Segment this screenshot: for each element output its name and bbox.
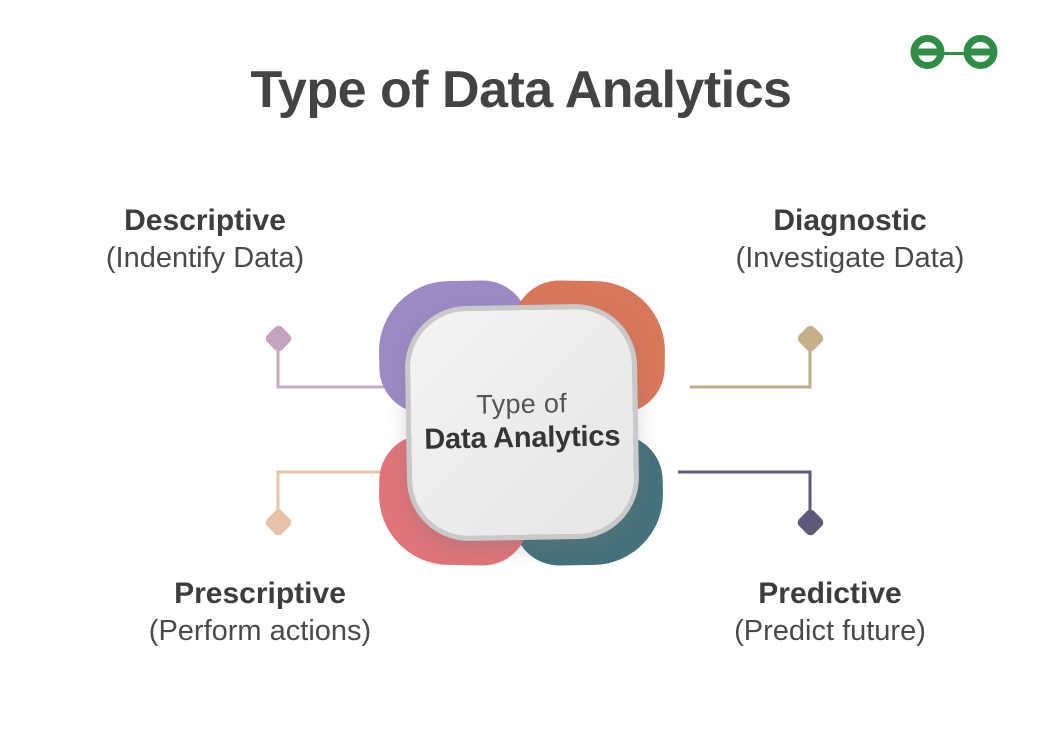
quadrant-subtitle-descriptive: (Indentify Data): [35, 240, 375, 277]
quadrant-subtitle-predictive: (Predict future): [665, 613, 995, 650]
quadrant-subtitle-diagnostic: (Investigate Data): [680, 240, 1020, 277]
quadrant-subtitle-prescriptive: (Perform actions): [85, 613, 435, 650]
connector-diagnostic: [690, 324, 825, 387]
diagram-canvas: Type of Data Analytics Descriptive (Inde…: [0, 0, 1042, 745]
quadrant-title-predictive: Predictive: [665, 576, 995, 613]
quadrant-title-descriptive: Descriptive: [35, 203, 375, 240]
connector-predictive: [678, 472, 825, 537]
quadrant-label-prescriptive: Prescriptive (Perform actions): [85, 576, 435, 649]
center-card: Type of Data Analytics: [404, 303, 640, 542]
center-card-line1: Type of: [476, 389, 567, 422]
center-cluster: Type of Data Analytics: [355, 275, 685, 570]
quadrant-label-predictive: Predictive (Predict future): [665, 576, 995, 649]
quadrant-label-diagnostic: Diagnostic (Investigate Data): [680, 203, 1020, 276]
quadrant-title-diagnostic: Diagnostic: [680, 203, 1020, 240]
quadrant-label-descriptive: Descriptive (Indentify Data): [35, 203, 375, 276]
center-card-line2: Data Analytics: [424, 420, 621, 458]
quadrant-title-prescriptive: Prescriptive: [85, 576, 435, 613]
